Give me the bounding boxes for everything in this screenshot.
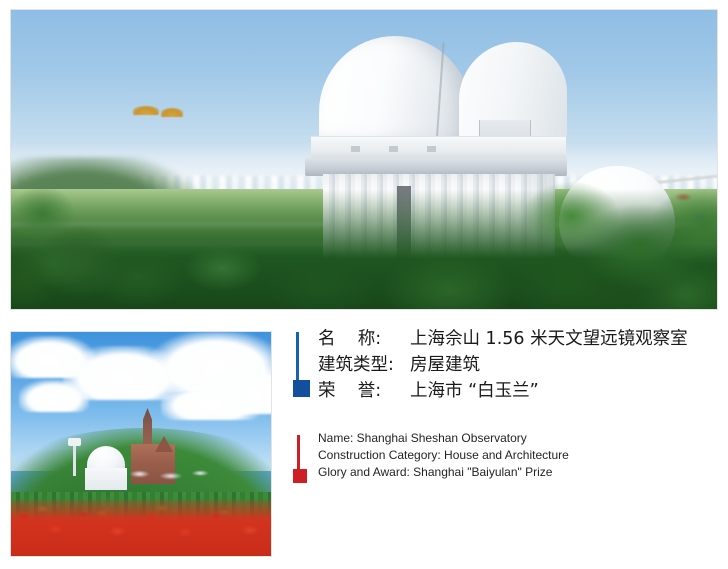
- cloud: [19, 380, 89, 412]
- telescope-dome: [319, 36, 471, 148]
- sheshan-hill-photo: [10, 331, 272, 557]
- red-accent-square: [293, 469, 307, 483]
- chinese-label-category: 建筑类型:: [318, 352, 410, 378]
- golden-roof-landmark-secondary: [161, 108, 183, 117]
- antenna-head: [68, 438, 81, 446]
- blue-accent-square: [293, 380, 310, 397]
- dome-vent: [389, 146, 398, 152]
- chinese-info-block: 名 称: 上海佘山 1.56 米天文望远镜观察室 建筑类型: 房屋建筑 荣 誉:…: [292, 326, 712, 404]
- info-panel: 名 称: 上海佘山 1.56 米天文望远镜观察室 建筑类型: 房屋建筑 荣 誉:…: [292, 326, 712, 481]
- chinese-row-category: 建筑类型: 房屋建筑: [318, 352, 712, 378]
- english-row-award: Glory and Award: Shanghai "Baiyulan" Pri…: [318, 464, 712, 481]
- chinese-value-name: 上海佘山 1.56 米天文望远镜观察室: [410, 326, 688, 352]
- foreground-tree-right: [507, 155, 718, 310]
- dome-vent: [351, 146, 360, 152]
- red-flower-field: [11, 500, 271, 556]
- english-info-block: Name: Shanghai Sheshan Observatory Const…: [292, 430, 712, 481]
- antenna-mast: [73, 442, 76, 476]
- chinese-label-name: 名 称:: [318, 326, 410, 352]
- chinese-label-award: 荣 誉:: [318, 378, 410, 404]
- dome-vent: [427, 146, 436, 152]
- foreground-tree-left: [10, 169, 147, 310]
- chinese-row-name: 名 称: 上海佘山 1.56 米天文望远镜观察室: [318, 326, 712, 352]
- observatory-photo-top: [10, 9, 718, 310]
- golden-roof-landmark: [133, 106, 159, 115]
- english-row-name: Name: Shanghai Sheshan Observatory: [318, 430, 712, 447]
- english-row-category: Construction Category: House and Archite…: [318, 447, 712, 464]
- chinese-value-award: 上海市 “白玉兰”: [410, 378, 539, 404]
- chinese-value-category: 房屋建筑: [410, 352, 480, 378]
- chinese-row-award: 荣 誉: 上海市 “白玉兰”: [318, 378, 712, 404]
